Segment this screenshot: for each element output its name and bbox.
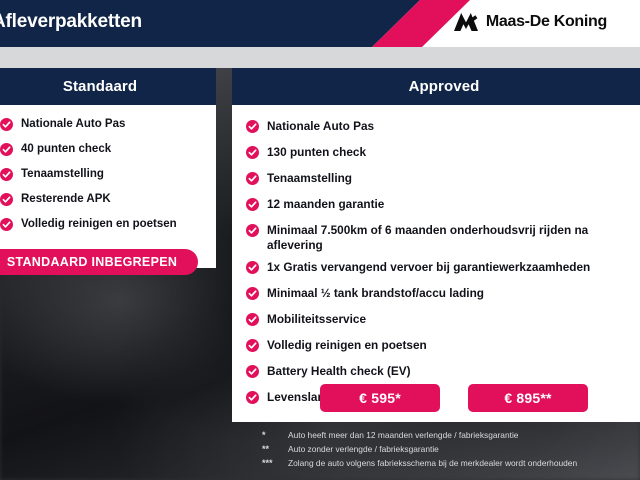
footnote-item: ***Zolang de auto volgens fabrieksschema…: [262, 457, 640, 469]
feature-label: Tenaamstelling: [21, 167, 104, 181]
feature-label: 12 maanden garantie: [267, 197, 384, 212]
brand-lockup: Maas-De Koning: [453, 12, 607, 32]
footnote-text: Auto zonder verlengde / fabrieksgarantie: [288, 443, 439, 455]
check-circle-icon: [246, 172, 259, 190]
check-circle-icon: [246, 313, 259, 331]
check-circle-icon: [0, 168, 13, 186]
feature-item: Volledig reinigen en poetsen: [246, 338, 640, 357]
check-circle-icon: [246, 287, 259, 305]
check-circle-icon: [246, 224, 259, 242]
standaard-inbegrepen-button[interactable]: STANDAARD INBEGREPEN: [0, 249, 198, 275]
check-circle-icon: [246, 391, 259, 409]
feature-item: Tenaamstelling: [0, 167, 206, 186]
footnote-list: *Auto heeft meer dan 12 maanden verlengd…: [262, 429, 640, 471]
feature-label: Nationale Auto Pas: [21, 117, 125, 131]
feature-label: 40 punten check: [21, 142, 111, 156]
check-circle-icon: [246, 365, 259, 383]
header-divider-band: [0, 47, 640, 68]
feature-item: Nationale Auto Pas: [246, 119, 640, 138]
card-title-approved: Approved: [232, 68, 640, 105]
package-card-standaard: Standaard Nationale Auto Pas40 punten ch…: [0, 68, 216, 268]
feature-label: 130 punten check: [267, 145, 366, 160]
feature-label: Volledig reinigen en poetsen: [267, 338, 427, 353]
feature-label: Resterende APK: [21, 192, 111, 206]
footnote-text: Zolang de auto volgens fabrieksschema bi…: [288, 457, 577, 469]
card-title-standaard: Standaard: [0, 68, 216, 105]
feature-item: 40 punten check: [0, 142, 206, 161]
check-circle-icon: [246, 339, 259, 357]
feature-item: Tenaamstelling: [246, 171, 640, 190]
feature-item: 1x Gratis vervangend vervoer bij garanti…: [246, 260, 640, 279]
check-circle-icon: [246, 120, 259, 138]
price-button-row: € 595*€ 895**: [320, 384, 588, 412]
feature-label: 1x Gratis vervangend vervoer bij garanti…: [267, 260, 590, 275]
feature-label: Minimaal ½ tank brandstof/accu lading: [267, 286, 484, 301]
check-circle-icon: [0, 118, 13, 136]
feature-item: Volledig reinigen en poetsen: [0, 217, 206, 236]
footnote-marker: **: [262, 443, 280, 455]
check-circle-icon: [0, 143, 13, 161]
maas-de-koning-m-mark-icon: [453, 12, 479, 32]
feature-list-standaard: Nationale Auto Pas40 punten checkTenaams…: [0, 105, 216, 236]
footnote-item: *Auto heeft meer dan 12 maanden verlengd…: [262, 429, 640, 441]
brand-name: Maas-De Koning: [486, 13, 607, 31]
feature-label: Mobiliteitsservice: [267, 312, 366, 327]
check-circle-icon: [0, 218, 13, 236]
footnote-marker: ***: [262, 457, 280, 469]
check-circle-icon: [246, 146, 259, 164]
page-title: Afleverpakketten: [0, 11, 142, 33]
feature-list-approved: Nationale Auto Pas130 punten checkTenaam…: [232, 105, 640, 409]
page-header: Afleverpakketten Maas-De Koning: [0, 0, 640, 47]
feature-item: Mobiliteitsservice: [246, 312, 640, 331]
price-button-2[interactable]: € 895**: [468, 384, 588, 412]
feature-label: Volledig reinigen en poetsen: [21, 217, 177, 231]
package-card-approved: Approved Nationale Auto Pas130 punten ch…: [232, 68, 640, 422]
feature-item: 130 punten check: [246, 145, 640, 164]
check-circle-icon: [246, 261, 259, 279]
feature-label: Nationale Auto Pas: [267, 119, 374, 134]
feature-label: Tenaamstelling: [267, 171, 352, 186]
price-button-1[interactable]: € 595*: [320, 384, 440, 412]
footnote-marker: *: [262, 429, 280, 441]
feature-item: Resterende APK: [0, 192, 206, 211]
footnote-text: Auto heeft meer dan 12 maanden verlengde…: [288, 429, 518, 441]
feature-item: Nationale Auto Pas: [0, 117, 206, 136]
check-circle-icon: [246, 198, 259, 216]
feature-item: Battery Health check (EV): [246, 364, 640, 383]
footnote-item: **Auto zonder verlengde / fabrieksgarant…: [262, 443, 640, 455]
feature-item: Minimaal 7.500km of 6 maanden onderhouds…: [246, 223, 640, 253]
check-circle-icon: [0, 193, 13, 211]
feature-item: Minimaal ½ tank brandstof/accu lading: [246, 286, 640, 305]
feature-label: Minimaal 7.500km of 6 maanden onderhouds…: [267, 223, 640, 253]
feature-item: 12 maanden garantie: [246, 197, 640, 216]
feature-label: Battery Health check (EV): [267, 364, 411, 379]
